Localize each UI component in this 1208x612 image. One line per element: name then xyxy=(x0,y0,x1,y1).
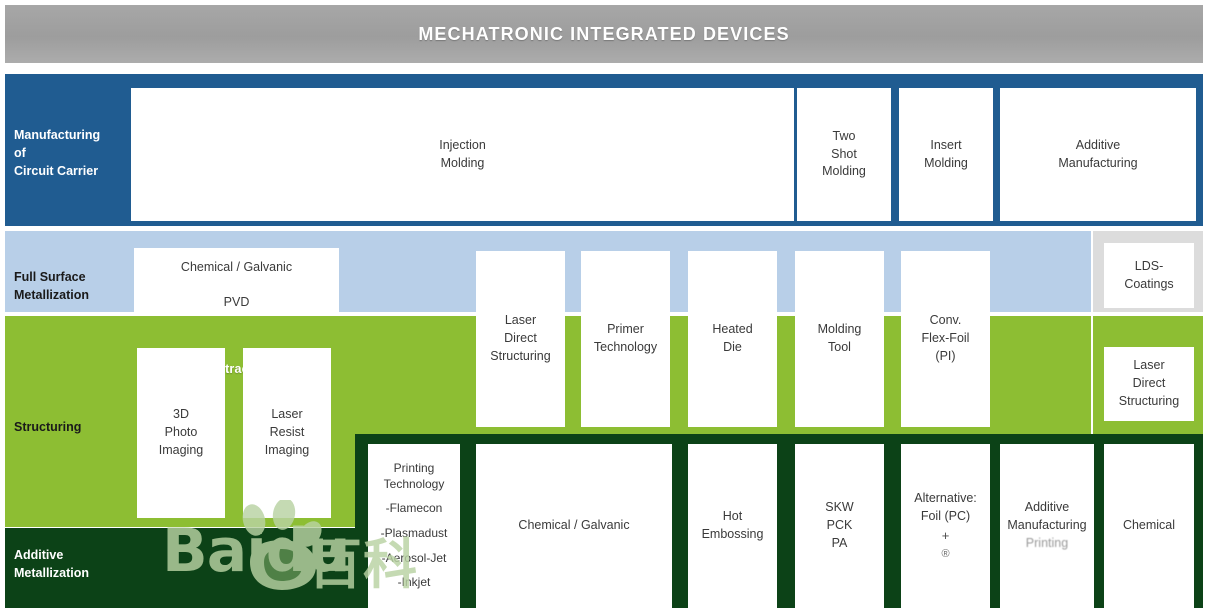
row-label-additive-metallization: Additive Metallization xyxy=(14,546,144,582)
alternative-foil-line2: Foil (PC) xyxy=(921,508,970,526)
printing-technology-sub-plasmadust: -Plasmadust xyxy=(381,526,448,542)
alternative-foil-plus: + xyxy=(942,527,950,545)
cell-injection-molding[interactable]: Injection Molding xyxy=(131,88,794,221)
cell-alternative-foil[interactable]: Alternative: Foil (PC) + ® xyxy=(901,444,990,608)
diagram-header: MECHATRONIC INTEGRATED DEVICES xyxy=(5,5,1203,63)
cell-hot-embossing[interactable]: Hot Embossing xyxy=(688,444,777,608)
cell-skw-pck-pa[interactable]: SKW PCK PA xyxy=(795,444,884,608)
printing-technology-sub-flamecon: -Flamecon xyxy=(386,501,443,517)
row-label-structuring: Structuring xyxy=(14,418,134,436)
row-label-manufacturing: Manufacturing of Circuit Carrier xyxy=(14,126,132,180)
additive-manufacturing-title: Additive Manufacturing xyxy=(1007,499,1086,535)
cell-two-shot-molding[interactable]: Two Shot Molding xyxy=(797,88,891,221)
cell-molding-tool[interactable]: Molding Tool xyxy=(795,251,884,427)
printing-technology-sub-aerosol-jet: -Aerosol-Jet xyxy=(382,551,447,567)
cell-chemical[interactable]: Chemical xyxy=(1104,444,1194,608)
cell-chemical-galvanic-pvd[interactable]: Chemical / Galvanic PVD xyxy=(134,248,339,323)
cell-additive-manufacturing-printing[interactable]: Additive Manufacturing Printing xyxy=(1000,444,1094,608)
additive-manufacturing-printing-faded: Printing xyxy=(1026,535,1068,553)
cell-laser-direct-structuring[interactable]: Laser Direct Structuring xyxy=(476,251,565,427)
cell-conv-flex-foil[interactable]: Conv. Flex-Foil (PI) xyxy=(901,251,990,427)
printing-technology-sub-inkjet: -Inkjet xyxy=(398,575,431,591)
cell-additive-manufacturing[interactable]: Additive Manufacturing xyxy=(1000,88,1196,221)
cell-laser-resist-imaging[interactable]: Laser Resist Imaging xyxy=(243,348,331,518)
cell-3d-photo-imaging[interactable]: 3D Photo Imaging xyxy=(137,348,225,518)
cell-lds-coatings[interactable]: LDS- Coatings xyxy=(1104,243,1194,308)
row-label-full-surface-metallization: Full Surface Metallization xyxy=(14,268,134,304)
page-title: MECHATRONIC INTEGRATED DEVICES xyxy=(418,24,789,45)
cell-insert-molding[interactable]: Insert Molding xyxy=(899,88,993,221)
cell-laser-direct-structuring-right[interactable]: Laser Direct Structuring xyxy=(1104,347,1194,421)
diagram-canvas: MECHATRONIC INTEGRATED DEVICES Manufactu… xyxy=(0,0,1208,612)
cell-printing-technology[interactable]: Printing Technology -Flamecon -Plasmadus… xyxy=(368,444,460,608)
printing-technology-title: Printing Technology xyxy=(384,461,445,492)
cell-chemical-galvanic[interactable]: Chemical / Galvanic xyxy=(476,444,672,608)
alternative-foil-line1: Alternative: xyxy=(914,490,977,508)
alternative-foil-registered-icon: ® xyxy=(941,547,949,563)
cell-primer-technology[interactable]: Primer Technology xyxy=(581,251,670,427)
cell-heated-die[interactable]: Heated Die xyxy=(688,251,777,427)
